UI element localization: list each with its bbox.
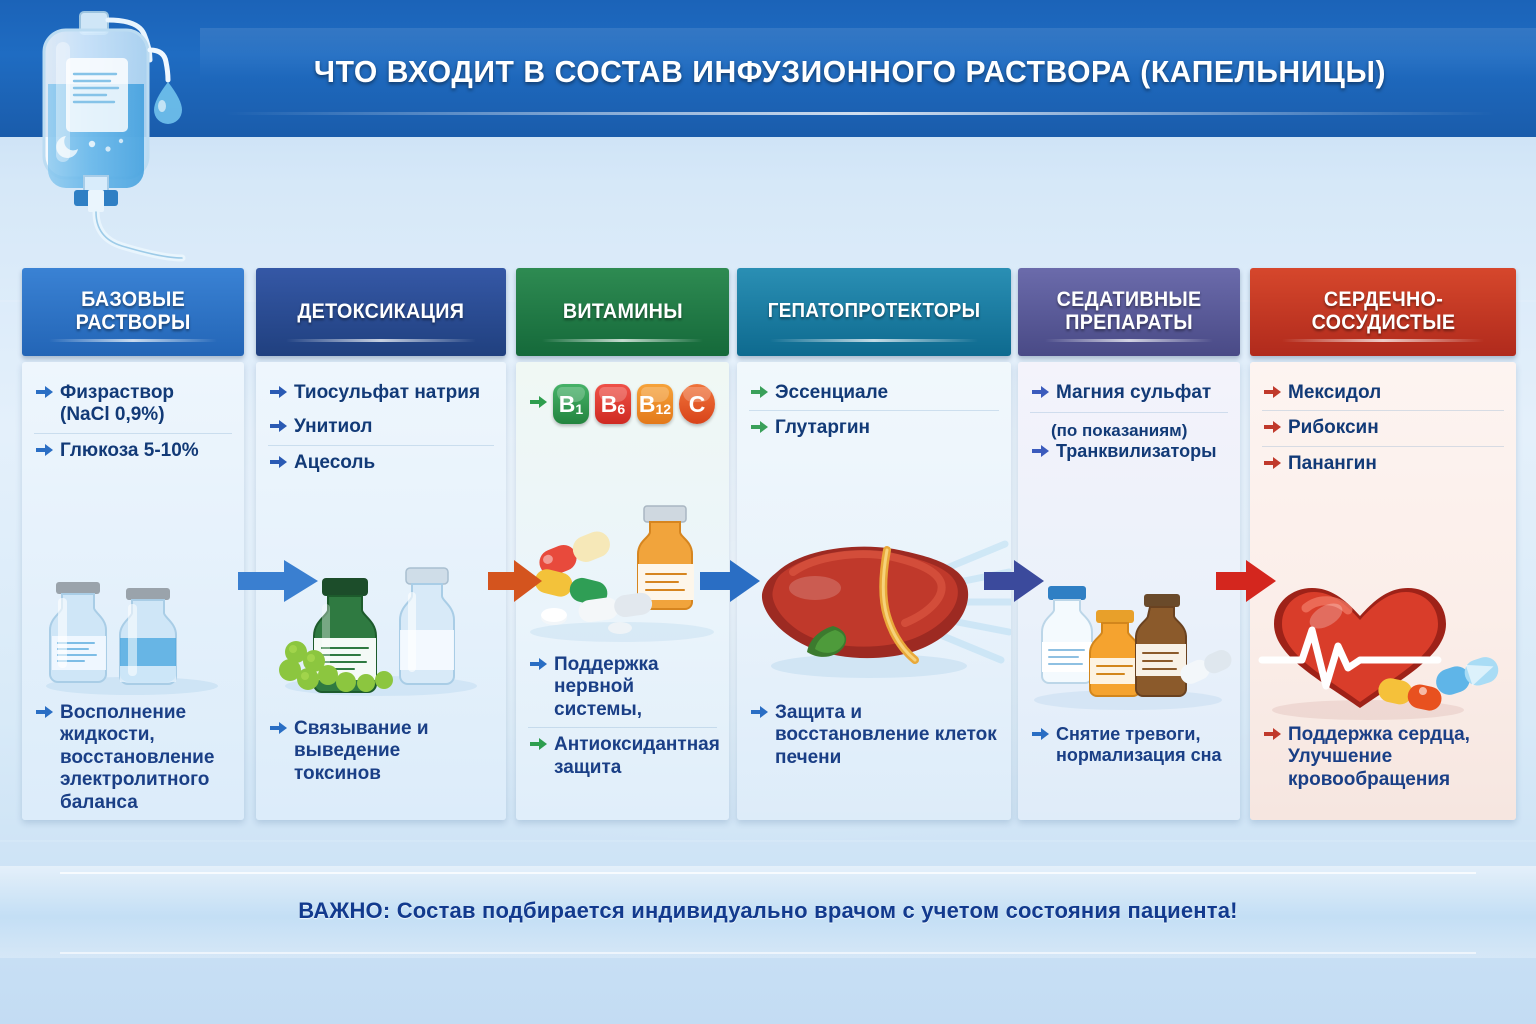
column-benefit-sedatives: Снятие тревоги, нормализация сна: [1018, 718, 1240, 772]
page-title: ЧТО ВХОДИТ В СОСТАВ ИНФУЗИОННОГО РАСТВОР…: [220, 54, 1481, 90]
column-benefit-hepatoprotectors: Защита и восстановление клеток печени: [737, 696, 1011, 775]
header-shine: [1282, 339, 1484, 342]
arrow-bullet-icon: [530, 657, 547, 676]
connector-arrow-2: [488, 558, 542, 609]
column-base-solutions: БАЗОВЫЕ РАСТВОРЫ Физраствор(NaCl 0,9%): [22, 268, 244, 820]
list-item[interactable]: Ацесоль: [268, 445, 494, 480]
arrow-bullet-icon: [36, 705, 53, 724]
header-shine: [770, 339, 978, 342]
arrow-bullet-icon: [1264, 456, 1281, 475]
column-title-line1: ВИТАМИНЫ: [563, 300, 683, 323]
column-benefit-vitamins: Поддержка нервной системы, Антиоксидантн…: [516, 648, 729, 785]
arrow-bullet-icon: [1264, 420, 1281, 439]
vitamin-badge-c[interactable]: C: [679, 384, 715, 424]
arrow-bullet-icon: [270, 419, 287, 438]
column-detoxification: ДЕТОКСИКАЦИЯ Тиосульфат натрия Унитиол: [256, 268, 506, 820]
benefit-item: Восполнение жидкости, восстановление эле…: [34, 696, 232, 820]
benefit-item: Поддержка нервной системы,: [528, 648, 717, 727]
column-body-sedatives: Магния сульфат (по показаниям) Транквили…: [1018, 362, 1240, 820]
arrow-bullet-icon: [1032, 385, 1049, 404]
header-underline: [225, 112, 1495, 115]
heart-with-ecg-and-capsules-icon: [1250, 568, 1516, 728]
capsules-and-pill-bottle-icon: [516, 470, 729, 650]
column-header-cardiovascular: СЕРДЕЧНО- СОСУДИСТЫЕ: [1250, 268, 1516, 356]
list-item[interactable]: Магния сульфат: [1030, 376, 1228, 410]
column-header-vitamins: ВИТАМИНЫ: [516, 268, 729, 356]
list-item-label: Магния сульфат: [1056, 382, 1211, 404]
benefit-label: Связывание и выведение токсинов: [294, 718, 492, 785]
liver-icon: [737, 514, 1011, 694]
list-item[interactable]: Транквилизаторы: [1030, 441, 1228, 469]
header-shine: [542, 339, 704, 342]
connector-arrow-5: [1216, 558, 1276, 609]
list-item-label: Глутаргин: [775, 417, 870, 439]
list-item[interactable]: Тиосульфат натрия: [268, 376, 494, 410]
benefit-item: Защита и восстановление клеток печени: [749, 696, 999, 775]
list-item[interactable]: Мексидол: [1262, 376, 1504, 410]
arrow-bullet-icon: [1264, 727, 1281, 746]
arrow-bullet-icon: [1264, 385, 1281, 404]
sedatives-note: (по показаниям): [1030, 412, 1228, 441]
column-body-base-solutions: Физраствор(NaCl 0,9%) Глюкоза 5-10%: [22, 362, 244, 820]
vitamin-badge-b12[interactable]: B12: [637, 384, 673, 424]
categories-row: БАЗОВЫЕ РАСТВОРЫ Физраствор(NaCl 0,9%): [0, 268, 1536, 828]
column-body-vitamins: B1 B6 B12 C: [516, 362, 729, 820]
list-item[interactable]: Эссенциале: [749, 376, 999, 410]
benefit-label: Антиоксидантная защита: [554, 734, 720, 779]
column-body-cardiovascular: Мексидол Рибоксин Панангин: [1250, 362, 1516, 820]
benefit-item: Поддержка сердца, Улучшение кровообращен…: [1262, 718, 1504, 797]
header-shine: [1045, 339, 1214, 342]
connector-arrow-4: [984, 558, 1044, 609]
list-item[interactable]: Физраствор(NaCl 0,9%): [34, 376, 232, 433]
list-item[interactable]: Унитиол: [268, 410, 494, 444]
benefit-label: Защита и восстановление клеток печени: [775, 702, 997, 769]
column-cardiovascular: СЕРДЕЧНО- СОСУДИСТЫЕ Мексидол Рибоксин: [1250, 268, 1516, 820]
list-item-label: Панангин: [1288, 453, 1377, 475]
assorted-medicine-bottles-icon: [1018, 558, 1240, 718]
list-item[interactable]: Глюкоза 5-10%: [34, 433, 232, 468]
column-header-base-solutions: БАЗОВЫЕ РАСТВОРЫ: [22, 268, 244, 356]
column-title-line2: РАСТВОРЫ: [76, 311, 191, 334]
column-title-line1: СЕДАТИВНЫЕ: [1057, 288, 1202, 311]
list-item-label: Рибоксин: [1288, 417, 1379, 439]
column-title-line1: ДЕТОКСИКАЦИЯ: [298, 300, 465, 323]
benefit-label: Снятие тревоги, нормализация сна: [1056, 724, 1226, 766]
list-item[interactable]: Глутаргин: [749, 410, 999, 445]
arrow-bullet-icon: [530, 395, 547, 414]
benefit-item: Связывание и выведение токсинов: [268, 712, 494, 791]
list-item-label: Мексидол: [1288, 382, 1381, 404]
footer-divider-bottom: [60, 952, 1476, 954]
column-title-line1: БАЗОВЫЕ: [81, 288, 185, 311]
column-title-line1: ГЕПАТОПРОТЕКТОРЫ: [768, 300, 980, 322]
header-shine: [49, 339, 218, 342]
connector-arrow-3: [700, 558, 760, 609]
list-item-label: Ацесоль: [294, 452, 375, 474]
column-body-hepatoprotectors: Эссенциале Глутаргин: [737, 362, 1011, 820]
iv-drip-bag-icon: [22, 8, 207, 268]
column-sedatives: СЕДАТИВНЫЕ ПРЕПАРАТЫ Магния сульфат (по …: [1018, 268, 1240, 820]
vitamin-badges-row: B1 B6 B12 C: [528, 376, 717, 426]
vitamin-badge-b6[interactable]: B6: [595, 384, 631, 424]
list-item-label: Глюкоза 5-10%: [60, 440, 199, 462]
column-hepatoprotectors: ГЕПАТОПРОТЕКТОРЫ Эссенциале Глутаргин: [737, 268, 1011, 820]
list-item-label: Унитиол: [294, 416, 372, 438]
list-item-label: Транквилизаторы: [1056, 441, 1217, 462]
footer-note: ВАЖНО: Состав подбирается индивидуально …: [0, 898, 1536, 924]
column-vitamins: ВИТАМИНЫ B1 B6 B12: [516, 268, 729, 820]
benefit-item: Снятие тревоги, нормализация сна: [1030, 718, 1228, 772]
list-item-label: Эссенциале: [775, 382, 888, 404]
benefit-item: Антиоксидантная защита: [528, 727, 717, 785]
list-item[interactable]: Панангин: [1262, 446, 1504, 481]
benefit-label: Поддержка нервной системы,: [554, 654, 715, 721]
arrow-bullet-icon: [270, 385, 287, 404]
vitamin-badge-b1[interactable]: B1: [553, 384, 589, 424]
column-title-line2: СОСУДИСТЫЕ: [1311, 311, 1455, 334]
column-title-line2: ПРЕПАРАТЫ: [1065, 311, 1193, 334]
arrow-bullet-icon: [530, 737, 547, 756]
arrow-bullet-icon: [751, 385, 768, 404]
arrow-bullet-icon: [270, 455, 287, 474]
column-benefit-cardiovascular: Поддержка сердца, Улучшение кровообращен…: [1250, 718, 1516, 797]
benefit-label: Восполнение жидкости, восстановление эле…: [60, 702, 230, 814]
column-header-hepatoprotectors: ГЕПАТОПРОТЕКТОРЫ: [737, 268, 1011, 356]
arrow-bullet-icon: [36, 443, 53, 462]
column-benefit-base-solutions: Восполнение жидкости, восстановление эле…: [22, 696, 244, 820]
arrow-bullet-icon: [751, 705, 768, 724]
header-shine: [286, 339, 476, 342]
arrow-bullet-icon: [1032, 727, 1049, 746]
arrow-bullet-icon: [1032, 444, 1049, 463]
list-item-label: Тиосульфат натрия: [294, 382, 480, 404]
list-item-label: Физраствор(NaCl 0,9%): [60, 382, 174, 427]
footer-divider-top: [60, 872, 1476, 874]
two-glass-vials-icon: [22, 558, 244, 698]
column-benefit-detoxification: Связывание и выведение токсинов: [256, 712, 506, 791]
arrow-bullet-icon: [751, 420, 768, 439]
arrow-bullet-icon: [270, 721, 287, 740]
arrow-bullet-icon: [36, 385, 53, 404]
column-title-line1: СЕРДЕЧНО-: [1323, 288, 1442, 311]
column-header-sedatives: СЕДАТИВНЫЕ ПРЕПАРАТЫ: [1018, 268, 1240, 356]
connector-arrow-1: [238, 558, 320, 609]
column-header-detoxification: ДЕТОКСИКАЦИЯ: [256, 268, 506, 356]
list-item[interactable]: Рибоксин: [1262, 410, 1504, 445]
benefit-label: Поддержка сердца, Улучшение кровообращен…: [1288, 724, 1502, 791]
